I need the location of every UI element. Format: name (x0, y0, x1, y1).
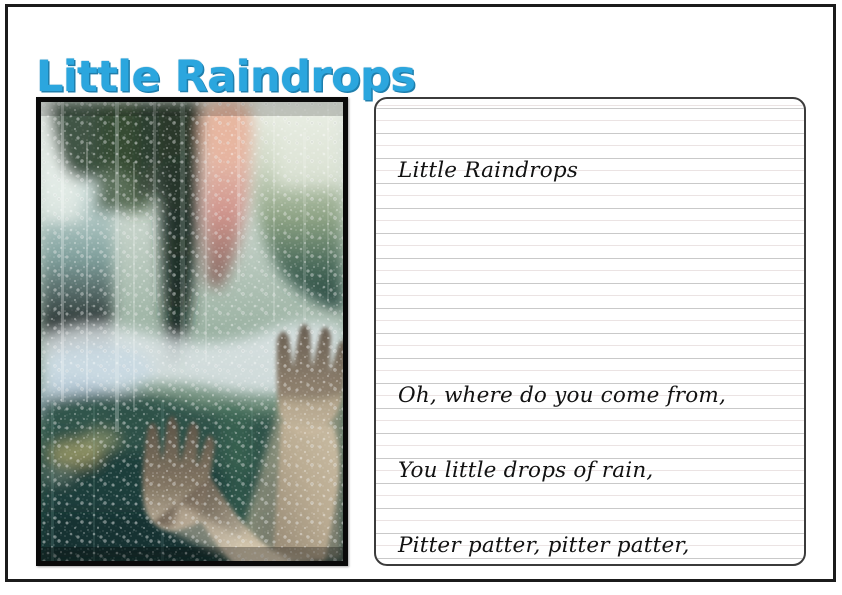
photo-frame (36, 97, 348, 566)
poem-text: Little Raindrops Oh, where do you come f… (398, 108, 794, 566)
poem-line: You little drops of rain, (398, 458, 794, 483)
poem-line (398, 233, 794, 258)
poem-panel: Little Raindrops Oh, where do you come f… (374, 97, 806, 566)
poem-line: Pitter patter, pitter patter, (398, 533, 794, 558)
page-title: Little Raindrops (36, 53, 416, 101)
poem-line (398, 308, 794, 333)
worksheet-page: Little Raindrops (0, 0, 842, 595)
rainy-window-photo (41, 102, 343, 561)
poem-line: Little Raindrops (398, 158, 794, 183)
poem-line: Oh, where do you come from, (398, 383, 794, 408)
